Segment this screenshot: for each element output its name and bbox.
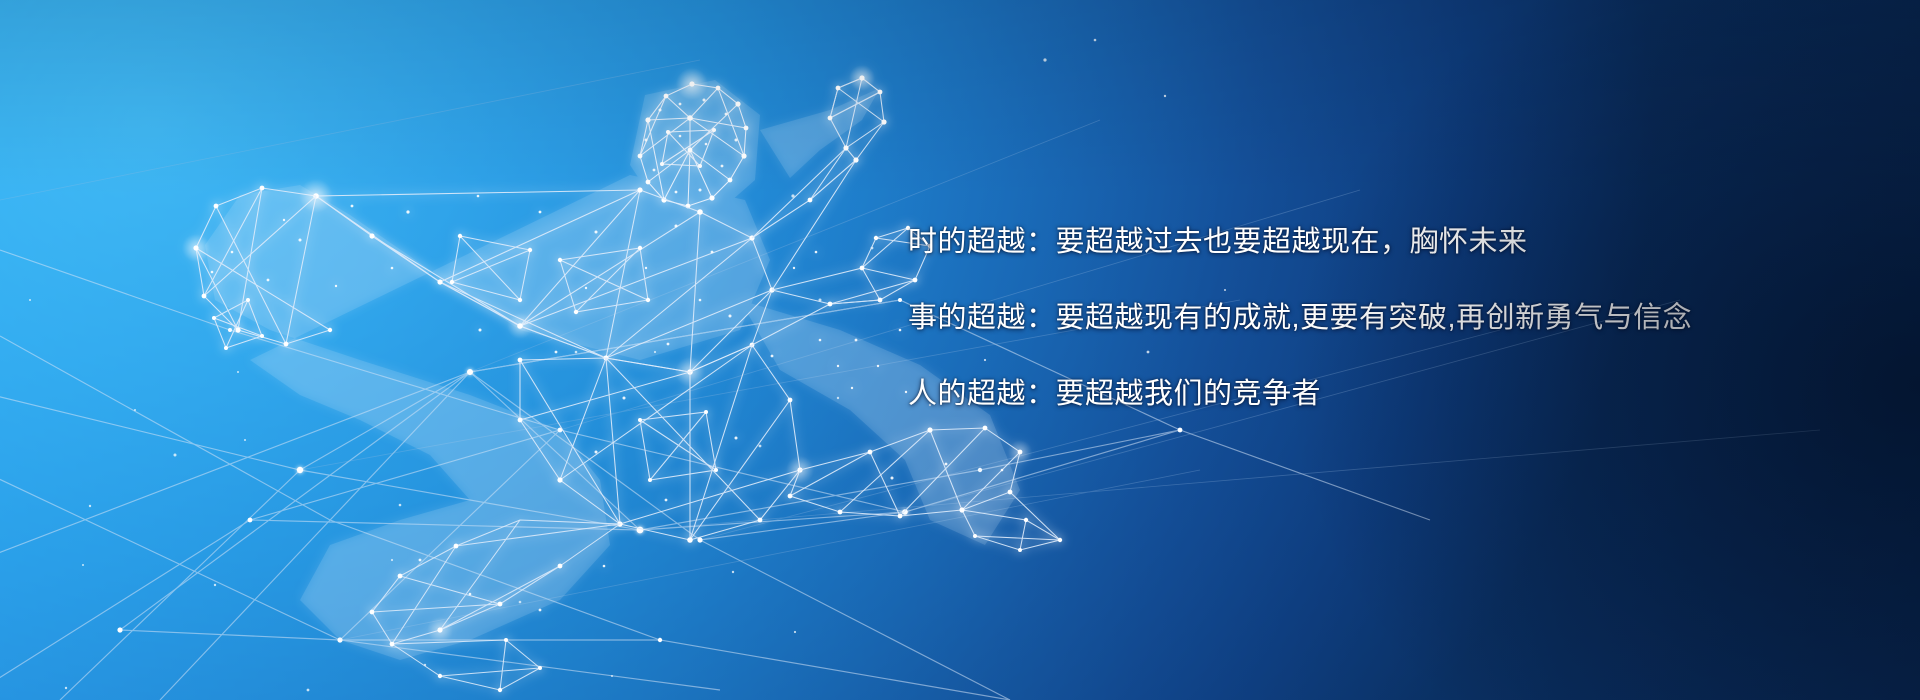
slogan-line-1: 时的超越：要超越过去也要超越现在，胸怀未来 — [908, 228, 1868, 257]
slogan-line-3: 人的超越：要超越我们的竞争者 — [908, 380, 1868, 409]
hero-banner: 时的超越：要超越过去也要超越现在，胸怀未来 事的超越：要超越现有的成就,更要有突… — [0, 0, 1920, 700]
slogan-text-block: 时的超越：要超越过去也要超越现在，胸怀未来 事的超越：要超越现有的成就,更要有突… — [908, 228, 1868, 409]
slogan-line-2: 事的超越：要超越现有的成就,更要有突破,再创新勇气与信念 — [908, 304, 1868, 333]
